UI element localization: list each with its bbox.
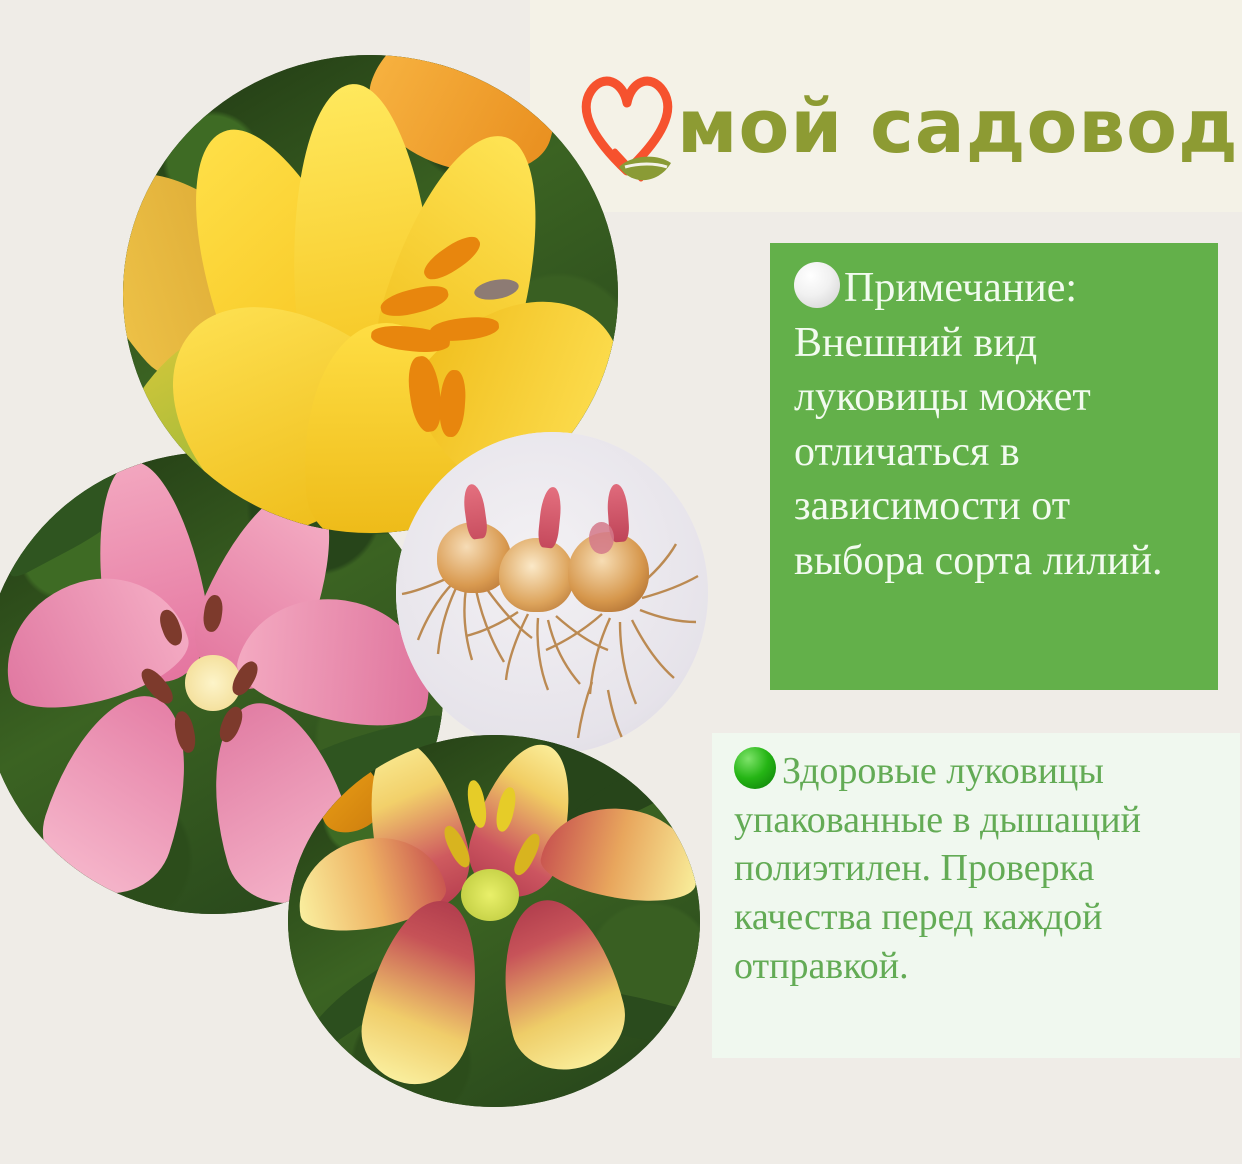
promo-canvas: мой садовод [0,0,1242,1164]
photo-lily-bulbs [396,432,708,754]
note-variation-text: Примечание: Внешний вид луковицы может о… [794,265,1163,584]
bicolor-lily-scene [288,735,700,1107]
photo-bicolor-lily [288,735,700,1107]
brand-logo[interactable]: мой садовод [575,52,1235,202]
note-quality-box: Здоровые луковицы упакованные в дышащий … [712,733,1240,1058]
green-circle-bullet-icon [734,747,776,789]
note-variation-box: Примечание: Внешний вид луковицы может о… [770,243,1218,690]
note-quality-text: Здоровые луковицы упакованные в дышащий … [734,750,1141,987]
brand-name: мой садовод [677,90,1239,164]
white-circle-bullet-icon [794,262,840,308]
lily-bulbs-scene [396,432,708,754]
